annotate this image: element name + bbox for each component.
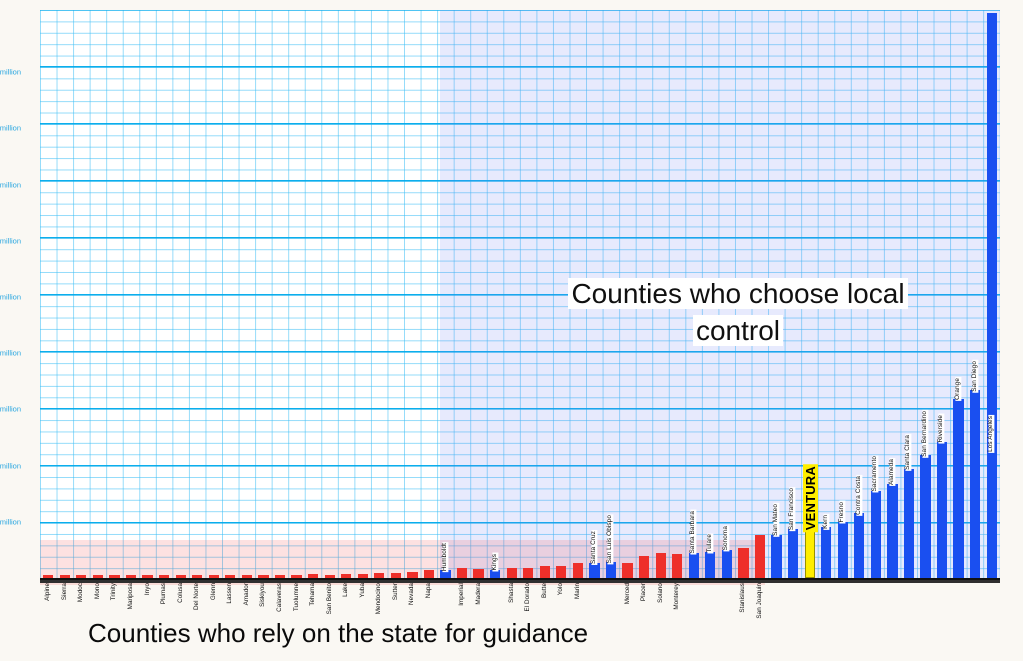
- x-axis-label-sutter: Sutter: [393, 583, 399, 600]
- x-axis-label-modoc: Modoc: [78, 583, 84, 602]
- x-axis-label-mariposa: Mariposa: [128, 583, 134, 609]
- bar-alameda[interactable]: [887, 484, 897, 578]
- x-axis-label-el-dorado: El Dorado: [525, 583, 531, 611]
- x-axis-label-trinity: Trinity: [111, 583, 117, 600]
- bar-santa-barbara[interactable]: [689, 553, 699, 578]
- x-axis-label-plumas: Plumas: [161, 583, 167, 604]
- bar-sacramento[interactable]: [871, 491, 881, 578]
- bar-orange[interactable]: [953, 399, 963, 578]
- bar-san-diego[interactable]: [970, 390, 980, 578]
- bar-contra-costa[interactable]: [854, 513, 864, 578]
- bar-label-san-bernardino: San Bernardino: [922, 410, 928, 458]
- bar-riverside[interactable]: [937, 442, 947, 578]
- x-axis-label-inyo: Inyo: [145, 583, 151, 595]
- x-axis-label-lassen: Lassen: [227, 583, 233, 604]
- bar-sonoma[interactable]: [722, 550, 732, 578]
- x-axis-label-butte: Butte: [542, 583, 548, 598]
- bar-butte[interactable]: [540, 566, 550, 578]
- x-axis-label-stanislaus: Stanislaus: [740, 583, 746, 613]
- y-axis-tick-3: 3 million: [0, 405, 21, 414]
- x-axis-label-merced: Merced: [625, 583, 631, 604]
- x-axis-label-napa: Napa: [426, 583, 432, 598]
- y-axis-tick-9: 9 million: [0, 68, 21, 77]
- bar-label-san-mateo: San Mateo: [773, 503, 779, 537]
- bar-label-sonoma: Sonoma: [723, 525, 729, 551]
- x-axis-label-mono: Mono: [95, 583, 101, 599]
- chart-canvas: HumboldtKingsSanta CruzSan Luis ObispoSa…: [0, 0, 1023, 661]
- x-axis-label-del-norte: Del Norte: [194, 583, 200, 610]
- x-axis-label-calaveras: Calaveras: [277, 583, 283, 612]
- bar-label-fresno: Fresno: [839, 501, 845, 524]
- x-axis-label-colusa: Colusa: [178, 583, 184, 603]
- bar-san-mateo[interactable]: [771, 535, 781, 578]
- bar-san-luis-obispo[interactable]: [606, 562, 616, 578]
- bar-label-ventura: VENTURA: [803, 464, 818, 532]
- bar-el-dorado[interactable]: [523, 568, 533, 578]
- x-axis-label-sierra: Sierra: [62, 583, 68, 600]
- bar-label-humboldt: Humboldt: [442, 542, 448, 572]
- x-axis-label-placer: Placer: [641, 583, 647, 601]
- bar-shasta[interactable]: [507, 568, 517, 578]
- y-axis-tick-1: 1 million: [0, 517, 21, 526]
- bar-label-kern: Kern: [823, 514, 829, 530]
- annotation-local-control: Counties who choose local control: [548, 276, 928, 350]
- bar-label-santa-cruz: Santa Cruz: [591, 530, 597, 565]
- bar-stanislaus[interactable]: [738, 548, 748, 578]
- bar-madera[interactable]: [473, 569, 483, 578]
- x-axis-label-tuolumne: Tuolumne: [294, 583, 300, 611]
- bar-san-bernardino[interactable]: [920, 455, 930, 578]
- bar-label-contra-costa: Contra Costa: [856, 475, 862, 516]
- bar-label-santa-barbara: Santa Barbara: [690, 510, 696, 555]
- x-axis-label-nevada: Nevada: [409, 583, 415, 605]
- bar-fresno[interactable]: [838, 522, 848, 578]
- bar-merced[interactable]: [622, 563, 632, 578]
- x-axis-label-san-benito: San Benito: [327, 583, 333, 614]
- x-axis-label-tehama: Tehama: [310, 583, 316, 606]
- y-axis-tick-6: 6 million: [0, 236, 21, 245]
- bar-label-san-luis-obispo: San Luis Obispo: [607, 514, 613, 564]
- bar-imperial[interactable]: [457, 568, 467, 578]
- x-axis-label-solano: Solano: [658, 583, 664, 603]
- bar-san-joaquin[interactable]: [755, 535, 765, 578]
- x-axis-label-yolo: Yolo: [558, 583, 564, 595]
- bar-kern[interactable]: [821, 527, 831, 578]
- bar-solano[interactable]: [656, 553, 666, 578]
- x-axis-label-monterey: Monterey: [674, 583, 680, 610]
- x-axis-label-amador: Amador: [244, 583, 250, 605]
- y-axis-tick-8: 8 million: [0, 124, 21, 133]
- annotation-local-control-text: Counties who choose local control: [568, 278, 907, 346]
- bar-label-los-angeles: Los Angeles: [988, 415, 994, 453]
- bar-label-santa-clara: Santa Clara: [905, 434, 911, 471]
- x-axis-label-san-joaquin: San Joaquin: [757, 583, 763, 619]
- bar-label-sacramento: Sacramento: [872, 455, 878, 492]
- x-axis-label-marin: Marin: [575, 583, 581, 599]
- bar-label-san-francisco: San Francisco: [789, 487, 795, 531]
- bar-napa[interactable]: [424, 570, 434, 578]
- annotation-state-guidance: Counties who rely on the state for guida…: [88, 618, 588, 649]
- x-axis-label-lake: Lake: [343, 583, 349, 597]
- x-axis-label-alpine: Alpine: [45, 583, 51, 601]
- y-axis-tick-7: 7 million: [0, 180, 21, 189]
- y-axis-tick-4: 4 million: [0, 349, 21, 358]
- y-axis-tick-5: 5 million: [0, 293, 21, 302]
- x-axis-label-siskiyou: Siskiyou: [260, 583, 266, 607]
- bar-yolo[interactable]: [556, 566, 566, 578]
- bar-los-angeles[interactable]: [987, 13, 997, 578]
- x-axis-label-mendocino: Mendocino: [376, 583, 382, 614]
- bar-san-francisco[interactable]: [788, 529, 798, 578]
- x-axis-label-shasta: Shasta: [509, 583, 515, 603]
- bar-marin[interactable]: [573, 563, 583, 578]
- bar-label-alameda: Alameda: [889, 458, 895, 486]
- bar-ventura[interactable]: [805, 530, 815, 578]
- bar-label-kings: Kings: [492, 553, 498, 572]
- bar-tulare[interactable]: [705, 552, 715, 578]
- x-axis-label-yuba: Yuba: [360, 583, 366, 598]
- x-axis-label-glenn: Glenn: [211, 583, 217, 600]
- bar-label-orange: Orange: [955, 377, 961, 401]
- bar-santa-clara[interactable]: [904, 469, 914, 578]
- bar-label-tulare: Tulare: [707, 533, 713, 553]
- bar-monterey[interactable]: [672, 554, 682, 578]
- bar-label-san-diego: San Diego: [972, 360, 978, 393]
- x-axis-label-madera: Madera: [476, 583, 482, 605]
- y-axis-tick-2: 2 million: [0, 461, 21, 470]
- x-axis-label-imperial: Imperial: [459, 583, 465, 606]
- bar-label-riverside: Riverside: [938, 414, 944, 444]
- bar-placer[interactable]: [639, 556, 649, 578]
